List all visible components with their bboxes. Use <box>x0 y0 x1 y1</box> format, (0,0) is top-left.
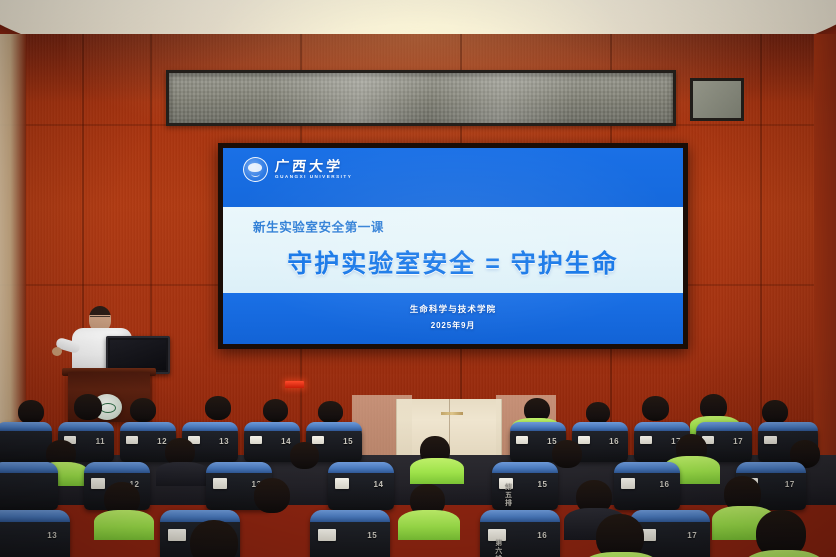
projection-screen-frame: 广西大学 GUANGXI UNIVERSITY 新生实验室安全第一课 守护实验室… <box>218 143 688 349</box>
seat-rim <box>758 422 818 431</box>
seat-number: 14 <box>281 437 291 446</box>
seat-number: 13 <box>219 437 229 446</box>
panel-sheen <box>169 73 673 123</box>
university-name-cn: 广西大学 <box>274 159 353 173</box>
seat-rim <box>0 510 70 522</box>
audience-person-shoulders <box>398 510 460 540</box>
seat-rim <box>84 462 150 473</box>
seat[interactable]: 13 <box>0 510 70 557</box>
seat-label-tag <box>250 436 262 445</box>
seat-label-tag <box>91 478 106 489</box>
seat-rim <box>634 422 690 431</box>
seat-label-tag <box>168 529 186 541</box>
exit-sign <box>285 381 304 388</box>
seat[interactable]: 14 <box>328 462 394 510</box>
seat[interactable] <box>0 462 58 510</box>
seat-rim <box>160 510 240 522</box>
seat-rim <box>630 510 710 522</box>
seat-number: 17 <box>687 531 697 540</box>
seat-number: 17 <box>733 437 743 446</box>
seat-label-tag <box>764 436 777 445</box>
seat-number: 16 <box>537 531 547 540</box>
seat[interactable]: 15 第五排 <box>492 462 558 510</box>
seat-rim <box>182 422 238 431</box>
university-logo: 广西大学 GUANGXI UNIVERSITY <box>243 157 352 182</box>
audience-person-head <box>130 398 156 422</box>
audience-person-head <box>586 402 610 424</box>
university-seal-icon <box>243 157 268 182</box>
audience-person-head <box>263 399 288 422</box>
audience-person-shoulders <box>410 458 464 484</box>
audience-person-shoulders <box>156 462 208 486</box>
audience-person-head <box>74 394 102 420</box>
seat-number: 15 <box>367 531 377 540</box>
seat-label-tag <box>516 436 528 445</box>
audience-person-shoulders <box>94 510 154 540</box>
seat-number: 17 <box>785 480 795 489</box>
slide-title: 守护实验室安全 = 守护生命 <box>223 244 683 280</box>
seat-rim <box>206 462 272 473</box>
seat-number: 16 <box>609 437 619 446</box>
seat-rim <box>492 462 558 473</box>
seat-rim <box>310 510 390 522</box>
audience-person-head <box>596 514 644 557</box>
university-logo-text: 广西大学 GUANGXI UNIVERSITY <box>275 159 352 180</box>
audience-person-head <box>254 478 290 513</box>
audience-person-head <box>290 442 319 469</box>
seat[interactable] <box>0 422 52 462</box>
seat-rim <box>510 422 566 431</box>
seat-rim <box>306 422 362 431</box>
slide-subtitle: 新生实验室安全第一课 <box>253 217 384 236</box>
seat-rim <box>696 422 752 431</box>
audience-seating: 11 12 13 14 15 15 16 <box>0 392 836 557</box>
seat-rim <box>480 510 560 522</box>
seat-label-tag <box>621 478 636 489</box>
slide-date: 2025年9月 <box>223 320 683 331</box>
seat-rim <box>614 462 680 473</box>
audience-person-head <box>318 401 343 423</box>
seat-number: 15 <box>343 437 353 446</box>
acoustic-panel-strip <box>166 70 676 126</box>
seat-label-tag <box>335 478 350 489</box>
seat-label-tag <box>126 436 138 445</box>
university-name-en: GUANGXI UNIVERSITY <box>275 175 352 180</box>
seat-number: 16 <box>660 480 670 489</box>
seat-number: 14 <box>374 480 384 489</box>
seat-rim <box>0 422 52 431</box>
seat-label-tag <box>312 436 324 445</box>
audience-person-head <box>762 400 788 424</box>
audience-person-head <box>18 400 44 424</box>
seat-label-tag <box>578 436 590 445</box>
seat-rim <box>572 422 628 431</box>
projection-screen[interactable]: 广西大学 GUANGXI UNIVERSITY 新生实验室安全第一课 守护实验室… <box>223 148 683 344</box>
seat-rim <box>0 462 58 473</box>
seat-rim <box>120 422 176 431</box>
seat[interactable]: 15 <box>310 510 390 557</box>
seat-rim <box>736 462 806 473</box>
presenter-hand <box>52 347 62 356</box>
audience-person-head <box>190 520 238 557</box>
seat-label-tag <box>213 478 228 489</box>
seat-row-label: 第五排 <box>503 483 513 507</box>
seat-number: 11 <box>96 437 105 446</box>
presenter-glasses <box>90 316 110 321</box>
side-wall-panel-right <box>690 78 744 121</box>
slide-organization: 生命科学与技术学院 <box>223 303 683 315</box>
monitor-screen <box>110 340 166 370</box>
seat-row-label: 第六排 <box>493 539 503 557</box>
seat-rim <box>328 462 394 473</box>
seat[interactable]: 16 第六排 <box>480 510 560 557</box>
seat-number: 15 <box>538 480 548 489</box>
lecture-hall-photo: 广西大学 GUANGXI UNIVERSITY 新生实验室安全第一课 守护实验室… <box>0 0 836 557</box>
seat-label-tag <box>640 436 652 445</box>
seat-label-tag <box>318 529 336 541</box>
slide-footer-band <box>223 293 683 344</box>
audience-person-head <box>205 396 231 420</box>
audience-person-head <box>552 440 582 468</box>
seat-rim <box>244 422 300 431</box>
seat[interactable]: 16 <box>614 462 680 510</box>
audience-person-head <box>642 396 669 421</box>
seat-number: 13 <box>47 531 57 540</box>
audience-person-shoulders <box>742 550 826 557</box>
seat-rim <box>58 422 114 431</box>
